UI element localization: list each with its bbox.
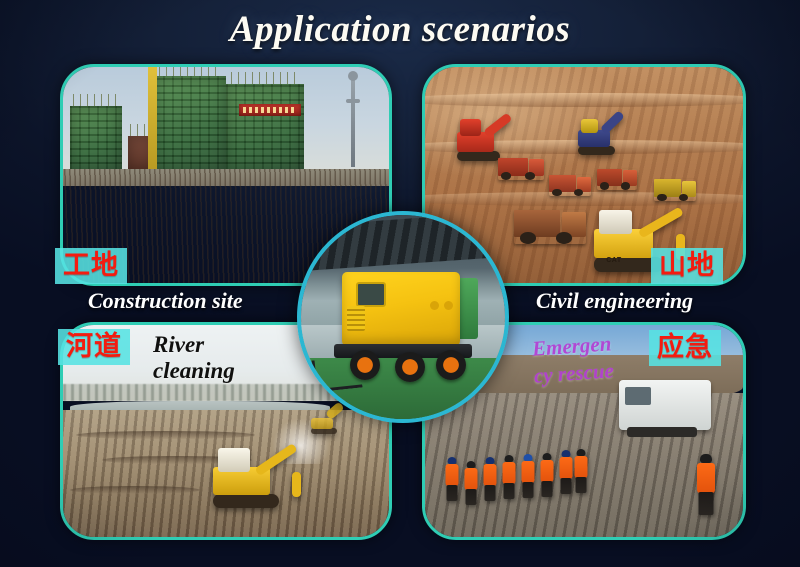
photo-generator-set (301, 215, 505, 419)
badge-emergency: 应急 (649, 330, 721, 366)
badge-river-channel: 河道 (58, 329, 130, 365)
application-scenarios-poster: Application scenarios (0, 0, 800, 567)
caption-civil-engineering: Civil engineering (536, 288, 693, 314)
product-circle-generator[interactable] (297, 211, 509, 423)
badge-mountain-terrain: 山地 (651, 248, 723, 284)
badge-construction-site: 工地 (55, 248, 127, 284)
caption-emergency-rescue: Emergen cy rescue (531, 330, 615, 390)
page-title: Application scenarios (0, 8, 800, 51)
caption-construction-site: Construction site (88, 288, 243, 314)
caption-river-cleaning: River cleaning (153, 332, 235, 385)
